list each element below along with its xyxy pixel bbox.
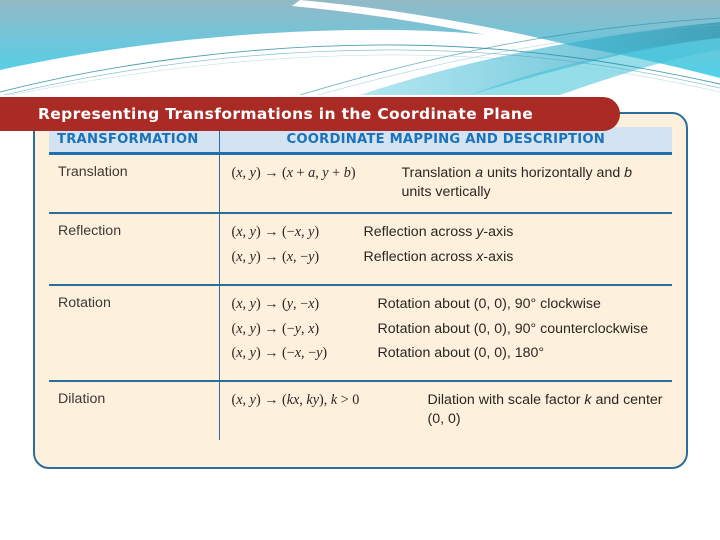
mapping-description: Reflection across y-axis	[360, 223, 665, 242]
mapping-description: Rotation about (0, 0), 90° clockwise	[372, 295, 665, 314]
panel-inner: TRANSFORMATION COORDINATE MAPPING AND DE…	[35, 114, 686, 467]
transformations-table: TRANSFORMATION COORDINATE MAPPING AND DE…	[49, 127, 672, 440]
mapping-rule: (x, y) → (x + a, y + b) Translation a un…	[232, 164, 665, 201]
mapping-rule: (x, y) → (x, −y) Reflection across x-axi…	[232, 248, 665, 267]
page-title: Representing Transformations in the Coor…	[38, 105, 533, 123]
transformation-name: Rotation	[49, 285, 219, 381]
mapping-formula: (x, y) → (kx, ky), k > 0	[232, 391, 422, 410]
mapping-cell: (x, y) → (x + a, y + b) Translation a un…	[219, 154, 672, 214]
mapping-rule: (x, y) → (−y, x) Rotation about (0, 0), …	[232, 320, 665, 339]
transformation-name: Translation	[49, 154, 219, 214]
mapping-cell: (x, y) → (y, −x) Rotation about (0, 0), …	[219, 285, 672, 381]
mapping-formula: (x, y) → (y, −x)	[232, 295, 372, 314]
transformations-panel: TRANSFORMATION COORDINATE MAPPING AND DE…	[33, 112, 688, 469]
table-row: Rotation (x, y) → (y, −x) Rotation about…	[49, 285, 672, 381]
mapping-description: Reflection across x-axis	[360, 248, 665, 267]
teal-wave-decoration	[0, 0, 720, 95]
mapping-formula: (x, y) → (−x, y)	[232, 223, 360, 242]
table-row: Reflection (x, y) → (−x, y) Reflection a…	[49, 213, 672, 284]
mapping-description: Translation a units horizontally and b u…	[396, 164, 665, 201]
mapping-cell: (x, y) → (−x, y) Reflection across y-axi…	[219, 213, 672, 284]
mapping-rule: (x, y) → (−x, y) Reflection across y-axi…	[232, 223, 665, 242]
mapping-rule: (x, y) → (−x, −y) Rotation about (0, 0),…	[232, 344, 665, 363]
mapping-rule: (x, y) → (kx, ky), k > 0 Dilation with s…	[232, 391, 665, 428]
mapping-description: Dilation with scale factor k and center …	[422, 391, 665, 428]
mapping-formula: (x, y) → (x, −y)	[232, 248, 360, 267]
table-row: Dilation (x, y) → (kx, ky), k > 0 Dilati…	[49, 381, 672, 439]
transformation-name: Reflection	[49, 213, 219, 284]
transformation-name: Dilation	[49, 381, 219, 439]
title-banner: Representing Transformations in the Coor…	[0, 97, 620, 131]
mapping-rule: (x, y) → (y, −x) Rotation about (0, 0), …	[232, 295, 665, 314]
table-row: Translation (x, y) → (x + a, y + b) Tran…	[49, 154, 672, 214]
mapping-description: Rotation about (0, 0), 90° counterclockw…	[372, 320, 665, 339]
mapping-description: Rotation about (0, 0), 180°	[372, 344, 665, 363]
mapping-formula: (x, y) → (x + a, y + b)	[232, 164, 396, 183]
mapping-formula: (x, y) → (−y, x)	[232, 320, 372, 339]
slide-canvas: Representing Transformations in the Coor…	[0, 0, 720, 540]
table-body: Translation (x, y) → (x + a, y + b) Tran…	[49, 154, 672, 440]
mapping-cell: (x, y) → (kx, ky), k > 0 Dilation with s…	[219, 381, 672, 439]
mapping-formula: (x, y) → (−x, −y)	[232, 344, 372, 363]
